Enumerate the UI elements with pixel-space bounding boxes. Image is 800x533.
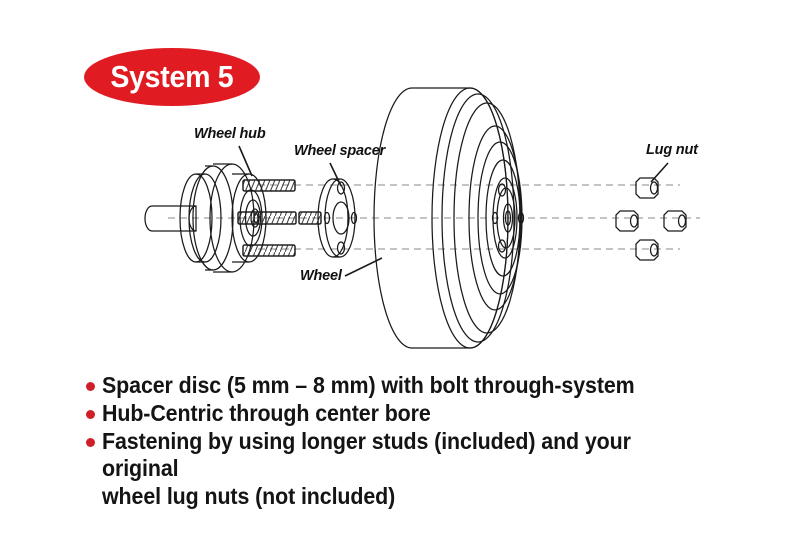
- hub-studs: [238, 180, 321, 256]
- callout-label-lug-nut: Lug nut: [646, 142, 698, 158]
- callout-label-wheel: Wheel: [300, 268, 342, 284]
- leader-wheel-spacer: [330, 163, 341, 186]
- bullet-icon: [86, 410, 95, 419]
- lug-nut-upper-right: [636, 178, 658, 198]
- lug-nut-lower-right: [636, 240, 658, 260]
- callout-label-wheel-spacer: Wheel spacer: [294, 143, 385, 159]
- feature-item: Spacer disc (5 mm – 8 mm) with bolt thro…: [86, 372, 746, 399]
- lug-nuts: [616, 178, 686, 260]
- feature-item: Fastening by using longer studs (include…: [86, 428, 746, 509]
- stud-lower: [243, 245, 295, 256]
- leader-wheel-hub: [239, 146, 252, 176]
- stud-middle: [238, 212, 321, 224]
- assembly-diagram: [0, 0, 800, 360]
- leader-lug-nut: [651, 163, 668, 182]
- feature-text: Spacer disc (5 mm – 8 mm) with bolt thro…: [102, 372, 635, 399]
- system-5-spacer-diagram: System 5: [0, 0, 800, 533]
- feature-item: Hub-Centric through center bore: [86, 400, 746, 427]
- feature-list: Spacer disc (5 mm – 8 mm) with bolt thro…: [86, 372, 746, 511]
- lug-nut-middle-right: [664, 211, 686, 231]
- callout-label-wheel-hub: Wheel hub: [194, 126, 266, 142]
- stud-upper: [243, 180, 295, 191]
- lug-nut-middle-left: [616, 211, 638, 231]
- feature-text: Hub-Centric through center bore: [102, 400, 431, 427]
- bullet-icon: [86, 438, 95, 447]
- feature-text: Fastening by using longer studs (include…: [102, 428, 701, 509]
- bullet-icon: [86, 382, 95, 391]
